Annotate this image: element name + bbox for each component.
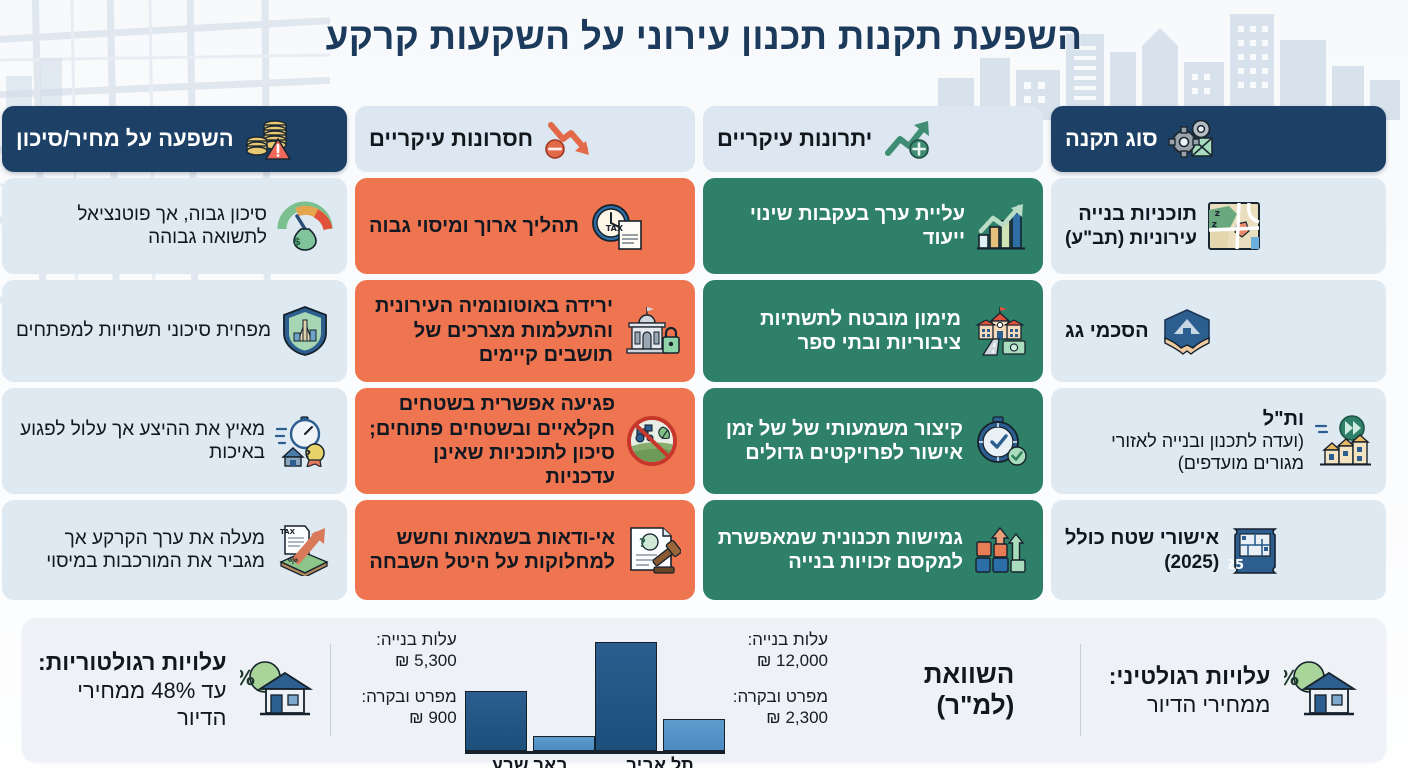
chart-tick-beer-sheva: באר שבע	[465, 755, 595, 768]
blueprint-2025-icon: 2025	[1229, 525, 1281, 575]
disadvantage-cell: TAX תהליך ארוך ומיסוי גבוה	[355, 178, 695, 274]
stopwatch-check-icon	[973, 415, 1029, 467]
bar-tel-aviv-build	[595, 642, 657, 751]
impact-text: סיכון גבוה, אך פוטנציאל לתשואה גבוהה	[16, 203, 267, 249]
page-title: השפעת תקנות תכנון עירוני על השקעות קרקע	[0, 14, 1408, 60]
svg-text:?: ?	[639, 536, 646, 550]
table-row: ות"ל (ועדה לתכנון ובנייה לאזורי מגורים מ…	[1051, 388, 1386, 494]
svg-text:TAX: TAX	[280, 528, 296, 536]
regulation-type-line1: אישורי שטח כולל	[1065, 526, 1219, 550]
footer-regulatory-right-line1: עלויות רגולטיני:	[1109, 662, 1271, 691]
document-gavel-question-icon: ?	[625, 524, 681, 576]
regulation-type-text: הסכמי גג	[1065, 319, 1149, 343]
table-header-disadvantages: חסרונות עיקריים	[355, 106, 695, 172]
cost-comparison-chart: עלות בנייה: 5,300 ₪ מפרט ובקרה: 900 ₪ בא…	[331, 618, 858, 762]
regulation-type-line1: הסכמי גג	[1065, 319, 1149, 343]
table-header-advantages-label: יתרונות עיקריים	[717, 126, 872, 153]
svg-text:%: %	[1284, 666, 1299, 690]
beer-sheva-spec-cost: מפרט ובקרה: 900 ₪	[361, 687, 456, 728]
chart-group-tel-aviv: תל אביב	[595, 636, 725, 751]
city-hall-lock-icon	[623, 305, 681, 357]
beer-sheva-build-cost: עלות בנייה: 5,300 ₪	[361, 630, 456, 671]
table-header-price-risk-impact-label: השפעה על מחיר/סיכון	[16, 126, 234, 153]
impact-text: מאיץ את ההיצע אך עלול לפגוע באיכות	[16, 418, 265, 464]
svg-text:2025: 2025	[1229, 558, 1244, 573]
trend-down-minus-icon	[543, 117, 593, 161]
disadvantage-text: ירידה באוטונומיה העירונית והתעלמות מצרכי…	[369, 294, 613, 367]
comparison-title-line2: (למ"ר)	[924, 690, 1015, 721]
disadvantage-text: תהליך ארוך ומיסוי גבוה	[369, 214, 579, 238]
advantage-text: עליית ערך בעקבות שינוי ייעוד	[717, 202, 965, 251]
advantage-cell: קיצור משמעותי של של זמן אישור לפרויקטים …	[703, 388, 1043, 494]
table-header-price-risk-impact: השפעה על מחיר/סיכון	[2, 106, 347, 172]
gears-map-icon	[1168, 118, 1214, 160]
footer-panel: % עלויות רגולטיני: ממחירי הדיור השוואת (…	[22, 618, 1386, 762]
fast-forward-houses-icon	[1314, 414, 1372, 468]
impact-cell: $ סיכון גבוה, אך פוטנציאל לתשואה גבוהה	[2, 178, 347, 274]
disadvantage-cell: ירידה באוטונומיה העירונית והתעלמות מצרכי…	[355, 280, 695, 382]
advantage-text: גמישות תכנונית שמאפשרת למקסם זכויות בניי…	[717, 526, 963, 575]
svg-text:z: z	[1215, 209, 1220, 219]
advantage-text: מימון מובטח לתשתיות ציבוריות ובתי ספר	[717, 307, 961, 356]
tel-aviv-spec-value: 2,300 ₪	[733, 708, 828, 728]
handshake-icon	[1159, 306, 1215, 356]
coins-warning-icon	[244, 117, 292, 161]
chart-tick-tel-aviv: תל אביב	[595, 755, 725, 768]
chart-group-beer-sheva: באר שבע	[465, 636, 595, 751]
chart-annotations-tel-aviv: עלות בנייה: 12,000 ₪ מפרט ובקרה: 2,300 ₪	[725, 630, 836, 754]
footer-regulatory-right: % עלויות רגולטיני: ממחירי הדיור	[1081, 618, 1386, 762]
advantage-cell: עליית ערך בעקבות שינוי ייעוד	[703, 178, 1043, 274]
zoning-map-icon: z z	[1207, 200, 1261, 252]
footer-divider	[1080, 644, 1081, 736]
svg-text:TAX: TAX	[606, 224, 624, 233]
school-road-money-icon	[971, 305, 1029, 357]
chart-plot-area: באר שבע תל אביב	[465, 636, 725, 754]
disadvantage-cell: ? אי-ודאות בשמאות וחשש למחלוקות על היטל …	[355, 500, 695, 600]
chart-body: עלות בנייה: 5,300 ₪ מפרט ובקרה: 900 ₪ בא…	[347, 626, 842, 754]
regulation-type-line2: (2025)	[1065, 551, 1219, 574]
table-row: z z תוכניות בנייה עירוניות (תב"ע)	[1051, 178, 1386, 274]
table-row: 2025 אישורי שטח כולל (2025)	[1051, 500, 1386, 600]
comparison-title-text: השוואת (למ"ר)	[924, 659, 1015, 721]
svg-text:?: ?	[305, 448, 311, 461]
clock-tax-icon: TAX	[589, 201, 643, 251]
comparison-table: סוג תקנה יתרונות עיקריים	[22, 106, 1386, 600]
footer-regulatory-left-text: עלויות רגולטוריות: עד 48% ממחירי הדיור	[38, 648, 226, 732]
beer-sheva-build-caption: עלות בנייה:	[361, 630, 456, 650]
svg-text:z: z	[1212, 220, 1217, 230]
regulation-type-text: תוכניות בנייה עירוניות (תב"ע)	[1065, 202, 1197, 250]
impact-text: מפחית סיכוני תשתיות למפתחים	[16, 319, 271, 342]
bar-beer-sheva-spec	[533, 736, 595, 751]
tel-aviv-build-cost: עלות בנייה: 12,000 ₪	[733, 630, 828, 671]
tel-aviv-build-value: 12,000 ₪	[733, 651, 828, 671]
infographic-root: השפעת תקנות תכנון עירוני על השקעות קרקע	[0, 0, 1408, 768]
table-header-regulation-type-label: סוג תקנה	[1065, 126, 1158, 153]
advantage-cell: מימון מובטח לתשתיות ציבוריות ובתי ספר	[703, 280, 1043, 382]
impact-text: מעלה את ערך הקרקע אך מגביר את המורכבות ב…	[16, 527, 265, 573]
impact-cell: מפחית סיכוני תשתיות למפתחים	[2, 280, 347, 382]
bar-chart-arrow-icon	[975, 201, 1029, 251]
advantage-text: קיצור משמעותי של של זמן אישור לפרויקטים …	[717, 417, 963, 466]
regulation-type-line2: (ועדה לתכנון ובנייה לאזורי מגורים מועדפי…	[1065, 431, 1304, 475]
svg-text:$: $	[293, 235, 301, 248]
advantage-cell: גמישות תכנונית שמאפשרת למקסם זכויות בניי…	[703, 500, 1043, 600]
chart-annotations-beer-sheva: עלות בנייה: 5,300 ₪ מפרט ובקרה: 900 ₪	[353, 630, 464, 754]
comparison-title-line1: השוואת	[924, 659, 1015, 690]
regulation-type-text: ות"ל (ועדה לתכנון ובנייה לאזורי מגורים מ…	[1065, 407, 1304, 475]
footer-regulatory-right-text: עלויות רגולטיני: ממחירי הדיור	[1109, 662, 1271, 718]
percent-house-icon: %	[1284, 659, 1358, 721]
no-farmland-icon	[625, 415, 681, 467]
footer-divider	[330, 644, 331, 736]
beer-sheva-spec-value: 900 ₪	[361, 708, 456, 728]
tel-aviv-spec-cost: מפרט ובקרה: 2,300 ₪	[733, 687, 828, 728]
table-header-regulation-type: סוג תקנה	[1051, 106, 1386, 172]
bar-tel-aviv-spec	[663, 719, 725, 751]
beer-sheva-build-value: 5,300 ₪	[361, 651, 456, 671]
table-header-disadvantages-label: חסרונות עיקריים	[369, 126, 533, 153]
tel-aviv-build-caption: עלות בנייה:	[733, 630, 828, 650]
page-title-wrapper: השפעת תקנות תכנון עירוני על השקעות קרקע	[0, 14, 1408, 60]
footer-regulatory-left: % עלויות רגולטוריות: עד 48% ממחירי הדיור	[22, 618, 330, 762]
disadvantage-cell: פגיעה אפשרית בשטחים חקלאיים ובשטחים פתוח…	[355, 388, 695, 494]
percent-house-icon: %	[240, 659, 314, 721]
flexible-blocks-arrows-icon	[973, 524, 1029, 576]
table-header-advantages: יתרונות עיקריים	[703, 106, 1043, 172]
tax-land-arrow-icon: TAX %	[275, 524, 333, 576]
shield-infrastructure-icon	[281, 305, 329, 357]
regulation-type-line2: עירוניות (תב"ע)	[1065, 227, 1197, 250]
disadvantage-text: אי-ודאות בשמאות וחשש למחלוקות על היטל הש…	[369, 526, 615, 575]
footer-regulatory-left-line1: עלויות רגולטוריות:	[38, 648, 226, 677]
footer-regulatory-left-line2: עד 48% ממחירי הדיור	[38, 677, 226, 732]
table-row: הסכמי גג	[1051, 280, 1386, 382]
footer-comparison-title: השוואת (למ"ר)	[858, 618, 1080, 762]
trend-up-plus-icon	[882, 117, 932, 161]
risk-gauge-money-icon: $	[277, 201, 333, 251]
svg-text:%: %	[240, 666, 255, 690]
impact-cell: TAX % מעלה את ערך הקרקע אך מגביר את המור…	[2, 500, 347, 600]
tel-aviv-spec-caption: מפרט ובקרה:	[733, 687, 828, 707]
regulation-type-line1: תוכניות בנייה	[1065, 202, 1197, 226]
regulation-type-text: אישורי שטח כולל (2025)	[1065, 526, 1219, 574]
footer-regulatory-right-line2: ממחירי הדיור	[1109, 691, 1271, 719]
impact-cell: ? מאיץ את ההיצע אך עלול לפגוע באיכות	[2, 388, 347, 494]
regulation-type-line1: ות"ל	[1065, 407, 1304, 431]
bar-beer-sheva-build	[465, 691, 527, 751]
speed-house-quality-icon: ?	[275, 415, 333, 467]
disadvantage-text: פגיעה אפשרית בשטחים חקלאיים ובשטחים פתוח…	[369, 392, 615, 490]
beer-sheva-spec-caption: מפרט ובקרה:	[361, 687, 456, 707]
